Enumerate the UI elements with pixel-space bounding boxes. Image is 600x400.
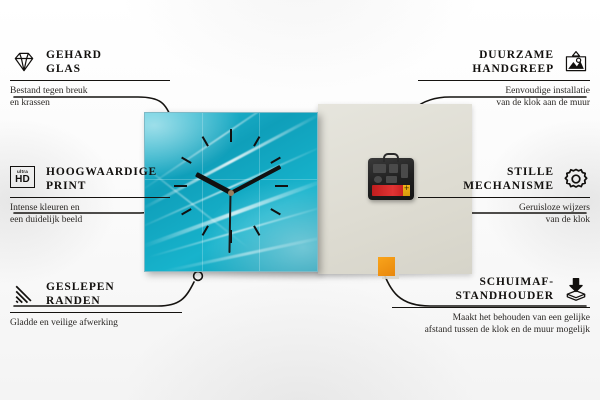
feature-divider xyxy=(10,80,170,81)
feature-desc-line: Eenvoudige installatie xyxy=(400,85,590,97)
feature-description: Geruisloze wijzers van de klok xyxy=(400,202,590,226)
feature-title: HOOGWAARDIGE PRINT xyxy=(46,165,157,194)
feature-title-line: STANDHOUDER xyxy=(455,289,554,303)
feature-title-line: GLAS xyxy=(46,62,102,76)
feature-divider xyxy=(392,307,590,308)
feature-desc-line: Geruisloze wijzers xyxy=(400,202,590,214)
feature-desc-line: Maakt het behouden van een gelijke xyxy=(385,312,590,324)
feature-header: GEHARD GLAS xyxy=(10,48,200,77)
feature-title: GEHARD GLAS xyxy=(46,48,102,77)
feature-description: Intense kleuren en een duidelijk beeld xyxy=(10,202,200,226)
mechanism-hanger xyxy=(383,153,399,162)
feature-gehard-glas: GEHARD GLAS Bestand tegen breuk en krass… xyxy=(10,48,200,109)
ultra-hd-icon: ultra HD xyxy=(10,166,38,192)
feature-title-line: STILLE xyxy=(463,165,554,179)
feature-desc-line: van de klok xyxy=(400,214,590,226)
feature-title-line: HANDGREEP xyxy=(472,62,554,76)
mechanism-detail xyxy=(386,176,397,183)
feature-stille-mechanisme: STILLE MECHANISME Geruisloze wijzers van… xyxy=(400,165,590,226)
feature-desc-line: Gladde en veilige afwerking xyxy=(10,317,200,329)
feature-header: SCHUIMAF- STANDHOUDER xyxy=(385,275,590,304)
clock-tick xyxy=(275,185,288,187)
feature-title-line: MECHANISME xyxy=(463,179,554,193)
feature-desc-line: Bestand tegen breuk xyxy=(10,85,200,97)
foam-spacer xyxy=(378,257,395,276)
beveled-edges-icon xyxy=(10,281,38,307)
feature-divider xyxy=(10,312,182,313)
feature-desc-line: een duidelijk beeld xyxy=(10,214,200,226)
mechanism-detail xyxy=(374,176,382,183)
feature-divider xyxy=(10,197,170,198)
clock-center-hub xyxy=(228,190,234,196)
feature-description: Eenvoudige installatie van de klok aan d… xyxy=(400,85,590,109)
feature-duurzame-handgreep: DUURZAME HANDGREEP Eenvoudige installati… xyxy=(400,48,590,109)
feature-description: Bestand tegen breuk en krassen xyxy=(10,85,200,109)
feature-desc-line: van de klok aan de muur xyxy=(400,97,590,109)
feature-title-line: GEHARD xyxy=(46,48,102,62)
feature-desc-line: Intense kleuren en xyxy=(10,202,200,214)
mechanism-detail xyxy=(373,164,386,173)
feature-divider xyxy=(418,197,590,198)
feature-description: Gladde en veilige afwerking xyxy=(10,317,200,329)
feature-title: GESLEPEN RANDEN xyxy=(46,280,115,309)
foam-spacer-icon xyxy=(562,276,590,302)
feature-desc-line: en krassen xyxy=(10,97,200,109)
feature-header: STILLE MECHANISME xyxy=(400,165,590,194)
product-infographic: GEHARD GLAS Bestand tegen breuk en krass… xyxy=(0,0,600,400)
feature-title: DUURZAME HANDGREEP xyxy=(472,48,554,77)
feature-title-line: DUURZAME xyxy=(472,48,554,62)
feature-title: STILLE MECHANISME xyxy=(463,165,554,194)
mechanism-detail xyxy=(389,164,398,173)
feature-title-line: RANDEN xyxy=(46,294,115,308)
clock-tick xyxy=(230,129,232,142)
feature-header: GESLEPEN RANDEN xyxy=(10,280,200,309)
gear-icon xyxy=(562,166,590,192)
feature-header: DUURZAME HANDGREEP xyxy=(400,48,590,77)
feature-desc-line: afstand tussen de klok en de muur mogeli… xyxy=(385,324,590,336)
feature-title-line: HOOGWAARDIGE xyxy=(46,165,157,179)
feature-hoogwaardige-print: ultra HD HOOGWAARDIGE PRINT Intense kleu… xyxy=(10,165,200,226)
feature-schuimafstandhouder: SCHUIMAF- STANDHOUDER Maakt het behouden… xyxy=(385,275,590,336)
wall-frame-icon xyxy=(562,49,590,75)
feature-description: Maakt het behouden van een gelijke afsta… xyxy=(385,312,590,336)
feature-title-line: GESLEPEN xyxy=(46,280,115,294)
feature-divider xyxy=(418,80,590,81)
feature-title-line: SCHUIMAF- xyxy=(455,275,554,289)
diamond-icon xyxy=(10,49,38,75)
feature-header: ultra HD HOOGWAARDIGE PRINT xyxy=(10,165,200,194)
feature-geslepen-randen: GESLEPEN RANDEN Gladde en veilige afwerk… xyxy=(10,280,200,329)
feature-title: SCHUIMAF- STANDHOUDER xyxy=(455,275,554,304)
feature-title-line: PRINT xyxy=(46,179,157,193)
ultra-hd-large-text: HD xyxy=(15,175,30,185)
